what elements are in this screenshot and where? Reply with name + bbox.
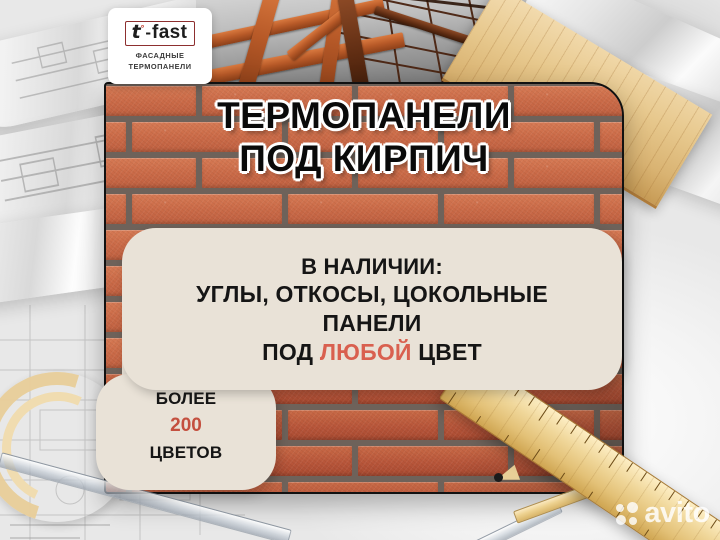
avito-dots-icon bbox=[616, 502, 639, 525]
brand-logo-mark: t° - fast bbox=[125, 21, 196, 46]
poster-title: ТЕРМОПАНЕЛИ ПОД КИРПИЧ bbox=[104, 96, 624, 178]
brand-logo-card: t° - fast ФАСАДНЫЕ ТЕРМОПАНЕЛИ bbox=[108, 8, 212, 84]
brand-logo-subtitle: ФАСАДНЫЕ ТЕРМОПАНЕЛИ bbox=[128, 51, 191, 72]
info-line-3: ПАНЕЛИ bbox=[323, 309, 422, 338]
info-line-4: ПОД ЛЮБОЙ ЦВЕТ bbox=[262, 338, 482, 367]
pencil-lead bbox=[494, 473, 503, 482]
colors-badge-text: БОЛЕЕ 200 ЦВЕТОВ bbox=[96, 386, 276, 466]
logo-subtitle-line-2: ТЕРМОПАНЕЛИ bbox=[128, 62, 191, 73]
main-info-text: В НАЛИЧИИ: УГЛЫ, ОТКОСЫ, ЦОКОЛЬНЫЕ ПАНЕЛ… bbox=[132, 236, 612, 384]
badge-number: 200 bbox=[96, 412, 276, 441]
info-line-2: УГЛЫ, ОТКОСЫ, ЦОКОЛЬНЫЕ bbox=[196, 280, 548, 309]
logo-letter-t: t bbox=[132, 23, 141, 42]
info-line-4-pre: ПОД bbox=[262, 339, 320, 365]
title-line-2: ПОД КИРПИЧ bbox=[104, 139, 624, 178]
poster-canvas: ТЕРМОПАНЕЛИ ПОД КИРПИЧ В НАЛИЧИИ: УГЛЫ, … bbox=[0, 0, 720, 540]
badge-line-3: ЦВЕТОВ bbox=[96, 440, 276, 466]
avito-watermark: avito bbox=[616, 499, 710, 528]
title-line-1: ТЕРМОПАНЕЛИ bbox=[104, 96, 624, 135]
logo-dash: - bbox=[145, 23, 151, 43]
logo-word-fast: fast bbox=[152, 23, 187, 42]
info-line-4-highlight: ЛЮБОЙ bbox=[320, 339, 412, 365]
avito-wordmark: avito bbox=[644, 499, 710, 528]
logo-subtitle-line-1: ФАСАДНЫЕ bbox=[128, 51, 191, 62]
info-line-1: В НАЛИЧИИ: bbox=[301, 253, 443, 281]
badge-line-1: БОЛЕЕ bbox=[96, 386, 276, 412]
degree-icon: ° bbox=[141, 23, 145, 33]
info-line-4-post: ЦВЕТ bbox=[412, 339, 482, 365]
